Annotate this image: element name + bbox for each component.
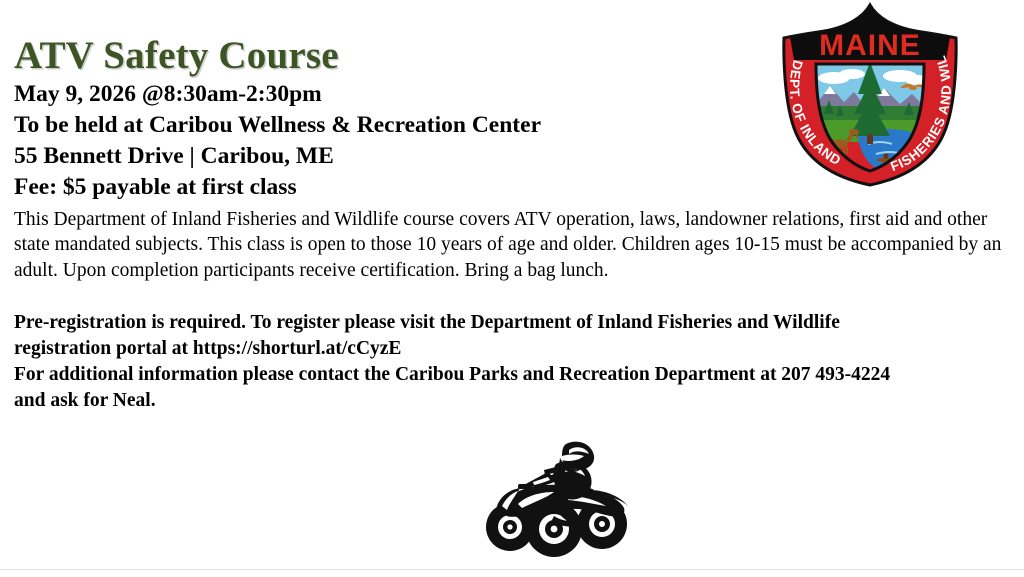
rider-helmet — [559, 442, 594, 472]
course-description-paragraph: This Department of Inland Fisheries and … — [14, 207, 1014, 283]
flyer-page: MAINE — [0, 0, 1024, 577]
paragraph-spacer — [14, 283, 1010, 310]
page-title: ATV Safety Course — [14, 36, 1010, 75]
contact-line: For additional information please contac… — [14, 364, 890, 385]
contact-name-line: and ask for Neal. — [14, 390, 156, 411]
atv-rider-illustration — [474, 428, 638, 568]
registration-line-1: Pre-registration is required. To registe… — [14, 312, 840, 333]
course-address-line: 55 Bennett Drive | Caribou, ME — [14, 141, 1010, 172]
registration-portal-label: registration portal at — [14, 338, 193, 359]
registration-url[interactable]: https://shorturl.at/cCyzE — [193, 338, 402, 359]
registration-block: Pre-registration is required. To registe… — [14, 310, 1014, 414]
course-datetime-line: May 9, 2026 @8:30am-2:30pm — [14, 79, 1010, 110]
flyer-text-content: ATV Safety Course May 9, 2026 @8:30am-2:… — [14, 36, 1010, 414]
course-venue-line: To be held at Caribou Wellness & Recreat… — [14, 110, 1010, 141]
course-fee-line: Fee: $5 payable at first class — [14, 172, 1010, 203]
page-bottom-rule — [0, 569, 1024, 570]
